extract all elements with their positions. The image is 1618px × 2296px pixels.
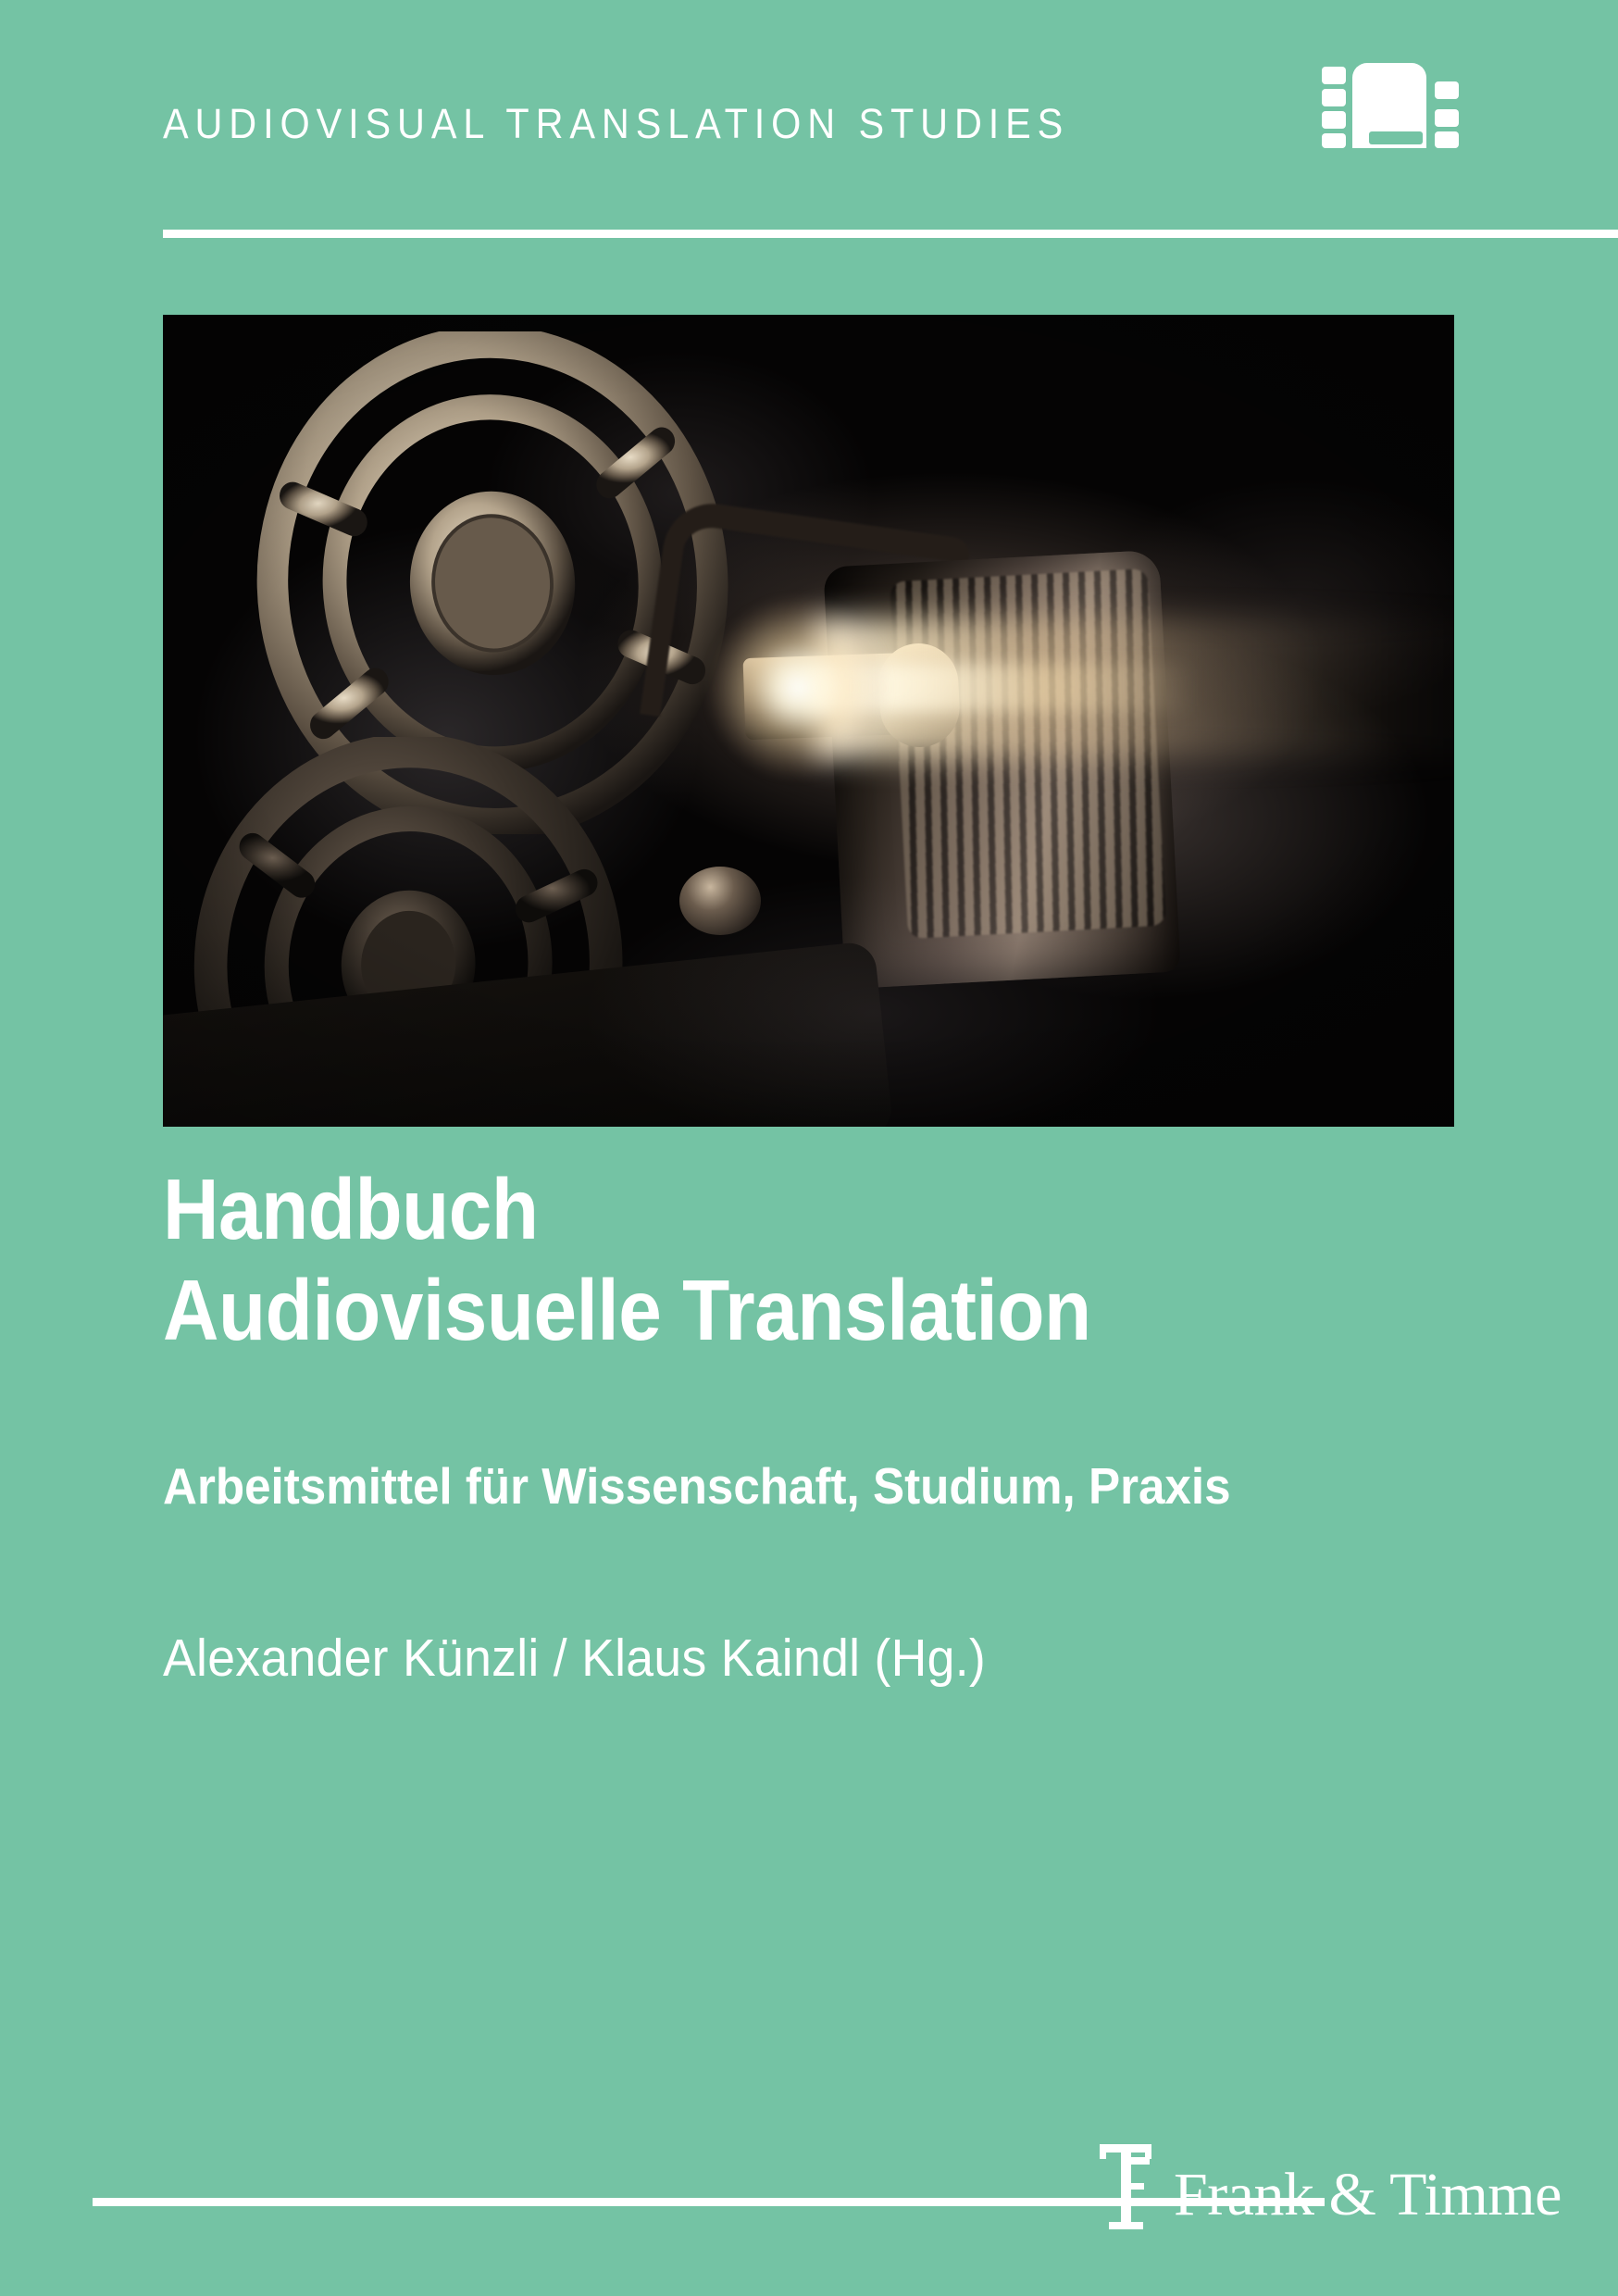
- book-cover: AUDIOVISUAL TRANSLATION STUDIES: [0, 0, 1618, 2296]
- header-divider: [163, 230, 1618, 238]
- title-line-2: Audiovisuelle Translation: [163, 1260, 1091, 1361]
- subtitle: Arbeitsmittel für Wissenschaft, Studium,…: [163, 1456, 1231, 1516]
- title-line-1: Handbuch: [163, 1159, 1091, 1260]
- publisher-logo: Frank & Timme: [1094, 2137, 1562, 2233]
- publisher-name: Frank & Timme: [1174, 2165, 1562, 2233]
- page-title: Handbuch Audiovisuelle Translation: [163, 1159, 1194, 1361]
- film-strip-icon: [1322, 57, 1459, 148]
- photo-vignette: [163, 315, 1454, 1127]
- editors-line: Alexander Künzli / Klaus Kaindl (Hg.): [163, 1628, 986, 1689]
- series-title: AUDIOVISUAL TRANSLATION STUDIES: [163, 100, 1069, 148]
- film-projector-photo: [163, 315, 1454, 1127]
- ft-monogram-icon: [1094, 2137, 1163, 2233]
